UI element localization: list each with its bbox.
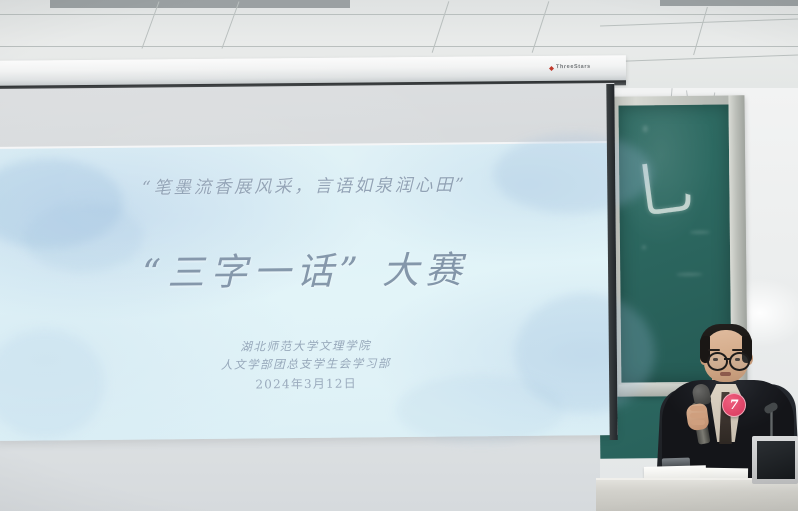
projector-brand-label: ThreeStars — [556, 64, 591, 70]
slide-content: “笔墨流香展风采，言语如泉润心田” “三字一话” 大赛 湖北师范大学文理学院 人… — [0, 143, 618, 441]
slide-date: 2024年3月12日 — [0, 372, 617, 395]
glasses-right-lens-icon — [729, 352, 750, 371]
ceiling-recess-right — [660, 0, 798, 6]
glasses-left-lens-icon — [707, 352, 728, 371]
ceiling-grid-line — [221, 1, 239, 48]
ceiling-recess — [50, 0, 350, 8]
glasses-bridge — [724, 358, 730, 360]
chalk-dust — [676, 273, 702, 276]
left-eyebrow — [708, 349, 720, 351]
finger — [691, 420, 705, 425]
classroom-photo-scene: ThreeStars 乚 “笔墨流香展风采，言语如泉润心田” “三字一话” 大赛 — [0, 0, 798, 511]
podium-monitor-screen — [757, 441, 795, 479]
ceiling-grid-line — [600, 19, 798, 27]
ceiling-grid-line — [600, 55, 798, 63]
slide-title: “三字一话” 大赛 — [0, 238, 616, 298]
chalk-dust — [690, 231, 710, 234]
mouth — [720, 372, 731, 376]
chalk-dust — [642, 245, 646, 249]
ceiling-grid-line — [0, 46, 798, 47]
slide-footer: 湖北师范大学文理学院 人文学部团总支学生会学习部 2024年3月12日 — [0, 335, 617, 395]
contestant-number-badge: 7 — [722, 393, 746, 417]
projector-screen: “笔墨流香展风采，言语如泉润心田” “三字一话” 大赛 湖北师范大学文理学院 人… — [0, 83, 618, 441]
finger — [690, 413, 706, 418]
ceiling-grid-line — [141, 1, 159, 48]
ceiling-grid-line — [0, 14, 798, 15]
chalk-dust — [643, 125, 648, 132]
slide-org-line-2: 人文学部团总支学生会学习部 — [0, 353, 617, 375]
finger — [690, 406, 706, 411]
slide-subtitle: “笔墨流香展风采，言语如泉润心田” — [0, 170, 615, 201]
right-eyebrow — [732, 349, 744, 351]
